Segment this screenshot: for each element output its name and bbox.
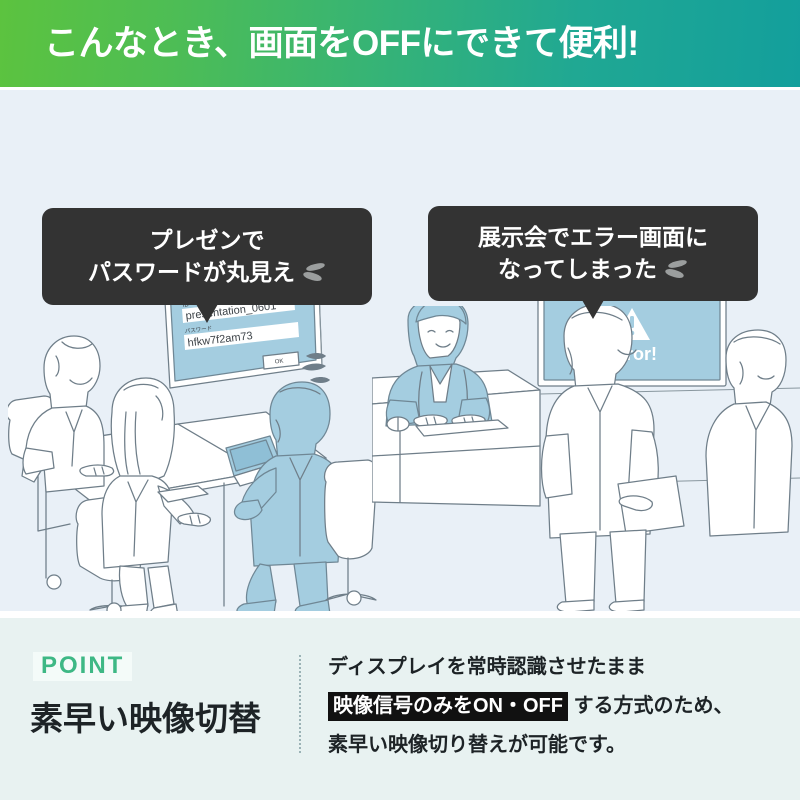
header-banner: こんなとき、画面をOFFにできて便利! bbox=[0, 0, 800, 87]
point-body-line-3: 素早い映像切り替えが可能です。 bbox=[328, 726, 788, 765]
point-heading: 素早い映像切替 bbox=[30, 692, 261, 740]
speech-bubble-exhibition-tail bbox=[582, 300, 604, 319]
bubble-line-2-text: パスワードが丸見え bbox=[88, 257, 295, 289]
bubble-line-1: 展示会でエラー画面に bbox=[478, 222, 708, 254]
point-body-line-2: 映像信号のみをON・OFF する方式のため、 bbox=[328, 687, 788, 726]
point-body-line-1: ディスプレイを常時認識させたまま bbox=[328, 648, 788, 687]
illustration-stage: ID presentation_0601 パスワード hfkw7f2am73 O… bbox=[0, 90, 800, 611]
infographic-page: こんなとき、画面をOFFにできて便利! ID presentation_0601… bbox=[0, 0, 800, 800]
speech-bubble-presentation-tail bbox=[196, 304, 218, 323]
speech-bubble-presentation: プレゼンで パスワードが丸見え bbox=[42, 208, 372, 305]
meeting-people-illustration bbox=[8, 316, 380, 611]
point-divider bbox=[299, 655, 301, 753]
sweat-marks-icon bbox=[300, 260, 326, 284]
page-title: こんなとき、画面をOFFにできて便利! bbox=[44, 26, 639, 61]
bubble-line-2-text: なってしまった bbox=[498, 254, 657, 286]
point-body: ディスプレイを常時認識させたまま 映像信号のみをON・OFF する方式のため、 … bbox=[328, 648, 788, 765]
point-body-highlight: 映像信号のみをON・OFF bbox=[328, 692, 568, 721]
bubble-line-2: なってしまった bbox=[498, 254, 688, 286]
exhibition-people-illustration bbox=[372, 306, 800, 611]
point-body-line-2-tail: する方式のため、 bbox=[574, 695, 734, 717]
speech-bubble-exhibition: 展示会でエラー画面に なってしまった bbox=[428, 206, 758, 301]
bubble-line-2: パスワードが丸見え bbox=[88, 257, 326, 289]
point-badge: POINT bbox=[33, 652, 132, 681]
sweat-marks-icon bbox=[662, 257, 688, 281]
bubble-line-1: プレゼンで bbox=[150, 225, 265, 257]
